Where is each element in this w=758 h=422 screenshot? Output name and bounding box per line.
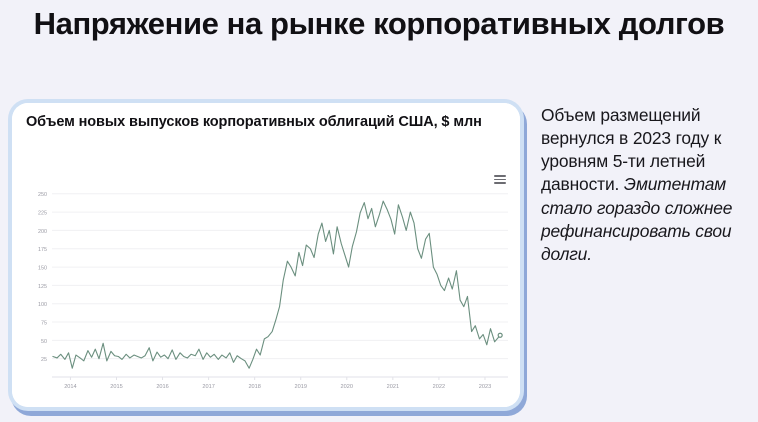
svg-text:2018: 2018 bbox=[248, 384, 260, 390]
svg-text:175: 175 bbox=[38, 247, 47, 253]
svg-text:2023: 2023 bbox=[479, 384, 491, 390]
svg-text:50: 50 bbox=[41, 339, 47, 345]
svg-text:2022: 2022 bbox=[433, 384, 445, 390]
svg-text:2017: 2017 bbox=[202, 384, 214, 390]
chart-card: Объем новых выпусков корпоративных облиг… bbox=[12, 103, 520, 407]
chart-card-inner: Объем новых выпусков корпоративных облиг… bbox=[12, 103, 520, 407]
svg-text:100: 100 bbox=[38, 302, 47, 308]
svg-text:125: 125 bbox=[38, 284, 47, 290]
svg-text:225: 225 bbox=[38, 211, 47, 217]
svg-text:25: 25 bbox=[41, 357, 47, 363]
svg-text:200: 200 bbox=[38, 229, 47, 235]
chart-plot-area[interactable]: 2550751001251501752002252502014201520162… bbox=[18, 179, 514, 399]
chart-title: Объем новых выпусков корпоративных облиг… bbox=[26, 113, 504, 133]
svg-text:2015: 2015 bbox=[110, 384, 122, 390]
commentary-block: Объем размещений вернулся в 2023 году к … bbox=[541, 104, 751, 266]
svg-text:2016: 2016 bbox=[156, 384, 168, 390]
svg-text:2021: 2021 bbox=[387, 384, 399, 390]
svg-text:150: 150 bbox=[38, 265, 47, 271]
hamburger-bar bbox=[494, 175, 506, 177]
svg-text:2019: 2019 bbox=[295, 384, 307, 390]
page-title: Напряжение на рынке корпоративных долгов bbox=[0, 6, 758, 42]
svg-text:250: 250 bbox=[38, 192, 47, 198]
svg-text:2014: 2014 bbox=[64, 384, 76, 390]
line-chart-svg: 2550751001251501752002252502014201520162… bbox=[18, 179, 514, 399]
svg-text:2020: 2020 bbox=[341, 384, 353, 390]
svg-text:75: 75 bbox=[41, 320, 47, 326]
